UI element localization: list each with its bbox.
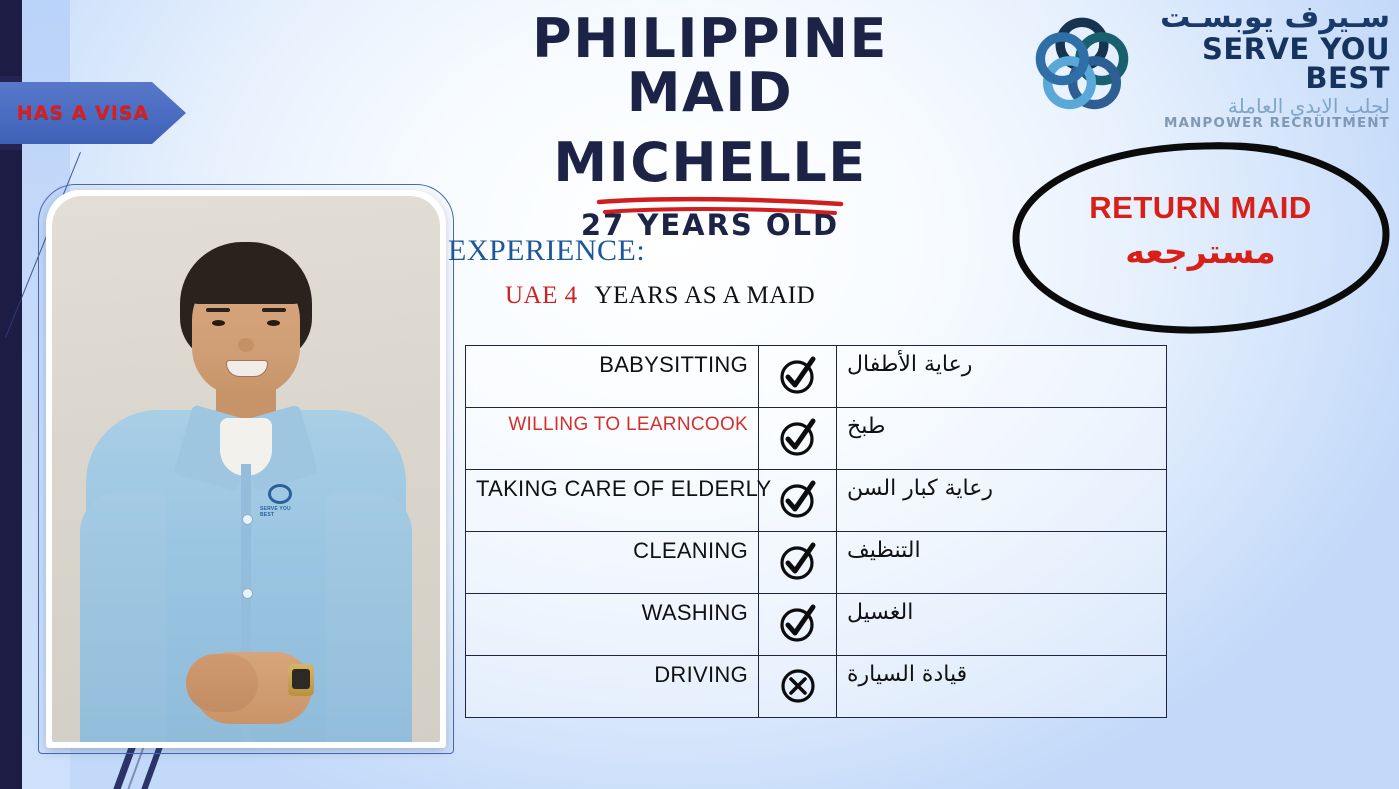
- return-maid-badge: RETURN MAID مسترجعه: [1008, 190, 1393, 271]
- skill-name-ar: التنظيف: [837, 532, 1167, 594]
- skill-name-ar: رعاية الأطفال: [837, 346, 1167, 408]
- has-a-visa-ribbon: HAS A VISA: [0, 82, 186, 144]
- table-row: DRIVINGقيادة السيارة: [466, 656, 1167, 718]
- title-line-2: MICHELLE: [440, 136, 980, 190]
- return-maid-english: RETURN MAID: [1008, 190, 1393, 226]
- photo-eye-left: [212, 320, 225, 326]
- skill-name-en: WASHING: [466, 594, 759, 656]
- photo-uniform-logo-ring: [268, 484, 292, 504]
- check-circle-icon: [759, 346, 837, 408]
- has-a-visa-label: HAS A VISA: [17, 102, 149, 124]
- skill-name-en: CLEANING: [466, 532, 759, 594]
- logo-arabic-tagline: لجلب الايدي العاملة: [1142, 96, 1390, 116]
- maid-profile-poster: HAS A VISA SERVE YOU BEST: [0, 0, 1399, 789]
- skill-name-en: TAKING CARE OF ELDERLY: [466, 470, 759, 532]
- photo-mouth: [226, 360, 268, 377]
- experience-years: YEARS AS A MAID: [594, 282, 815, 309]
- photo-arm-right: [326, 492, 412, 742]
- logo-english-tagline: MANPOWER RECRUITMENT: [1142, 117, 1390, 131]
- skill-name-en: BABYSITTING: [466, 346, 759, 408]
- table-row: CLEANINGالتنظيف: [466, 532, 1167, 594]
- table-row: BABYSITTINGرعاية الأطفال: [466, 346, 1167, 408]
- left-navy-notch-bottom: [0, 150, 22, 789]
- experience-label: EXPERIENCE:: [448, 234, 645, 268]
- photo-frame: SERVE YOU BEST: [46, 190, 446, 748]
- experience-detail-line: UAE 4 YEARS AS A MAID: [505, 282, 815, 310]
- skill-name-ar: طبخ: [837, 408, 1167, 470]
- photo-eyebrow-left: [206, 308, 230, 312]
- table-row: TAKING CARE OF ELDERLYرعاية كبار السن: [466, 470, 1167, 532]
- check-circle-icon: [759, 594, 837, 656]
- photo-uniform-logo-text: SERVE YOU BEST: [260, 506, 300, 518]
- return-maid-arabic: مسترجعه: [1008, 232, 1393, 271]
- left-navy-notch-top: [0, 0, 22, 76]
- photo-hand-second: [186, 654, 258, 712]
- company-logo-text: سـيرف يوبسـت SERVE YOU BEST لجلب الايدي …: [1142, 0, 1390, 131]
- skill-name-ar: الغسيل: [837, 594, 1167, 656]
- cross-circle-icon: [759, 656, 837, 718]
- photo-eye-right: [267, 320, 280, 326]
- photo-nose: [238, 338, 254, 352]
- company-logo: سـيرف يوبسـت SERVE YOU BEST لجلب الايدي …: [1030, 8, 1390, 122]
- table-row: WILLING TO LEARNCOOKطبخ: [466, 408, 1167, 470]
- interlocking-rings-logo-icon: [1030, 13, 1134, 117]
- skill-name-ar: قيادة السيارة: [837, 656, 1167, 718]
- skill-name-en: DRIVING: [466, 656, 759, 718]
- photo-uniform-logo: SERVE YOU BEST: [260, 484, 300, 518]
- title-underline: [595, 196, 845, 216]
- photo-button-1: [242, 514, 253, 525]
- experience-country: UAE 4: [505, 282, 578, 309]
- skill-name-en: WILLING TO LEARNCOOK: [466, 408, 759, 470]
- title-line-1: PHILIPPINE MAID: [440, 12, 980, 120]
- photo-eyebrow-right: [262, 308, 286, 312]
- skills-table: BABYSITTINGرعاية الأطفالWILLING TO LEARN…: [465, 345, 1167, 718]
- skill-name-ar: رعاية كبار السن: [837, 470, 1167, 532]
- logo-arabic-name: سـيرف يوبسـت: [1142, 3, 1390, 33]
- check-circle-icon: [759, 532, 837, 594]
- photo-fringe: [184, 260, 308, 304]
- photo-arm-left: [80, 492, 166, 742]
- photo-button-2: [242, 588, 253, 599]
- maid-portrait-photo: SERVE YOU BEST: [52, 196, 440, 742]
- table-row: WASHINGالغسيل: [466, 594, 1167, 656]
- logo-english-name: SERVE YOU BEST: [1142, 35, 1390, 93]
- check-circle-icon: [759, 408, 837, 470]
- photo-wristwatch: [288, 664, 314, 696]
